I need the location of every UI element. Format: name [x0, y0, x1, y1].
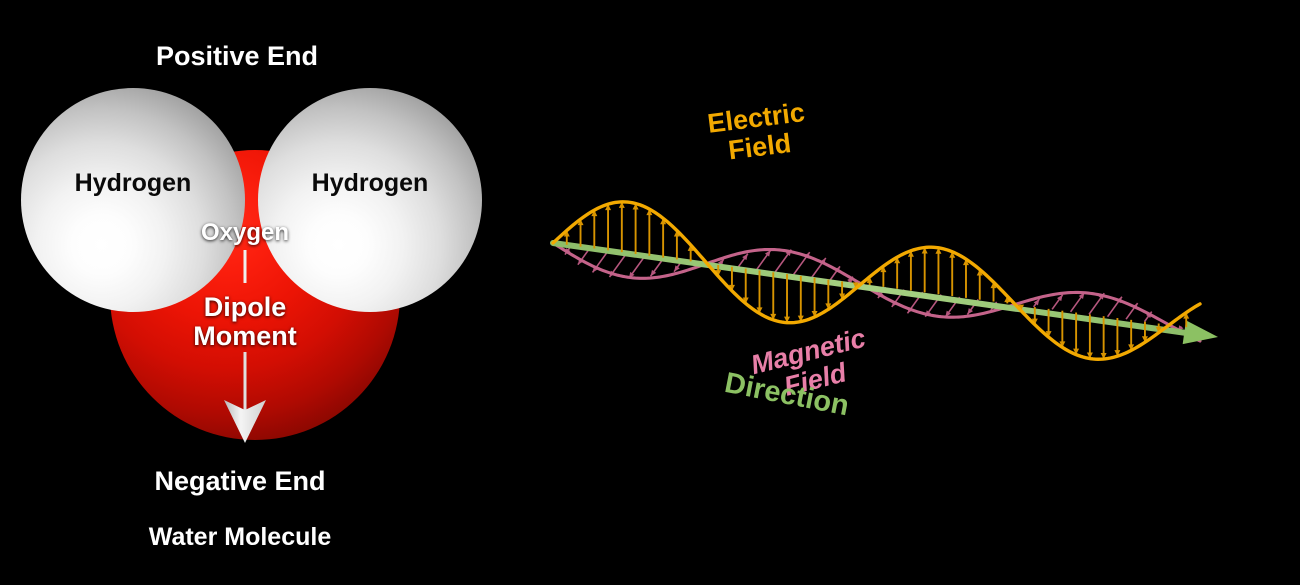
diagram-canvas: Positive End Hydrogen Hydrogen Oxygen Di… — [0, 0, 1300, 585]
em-wave-graphic — [500, 0, 1300, 585]
propagation-axis-line — [553, 243, 1190, 334]
electromagnetic-wave-panel: Electric Field Magnetic Field Direction — [500, 0, 1300, 585]
water-molecule-panel: Positive End Hydrogen Hydrogen Oxygen Di… — [0, 0, 500, 585]
dipole-moment-arrow — [0, 0, 500, 585]
electric-field-wave — [553, 202, 1200, 359]
electric-field-label: Electric Field — [706, 98, 810, 167]
electric-field-arrows — [564, 202, 1189, 359]
propagation-arrowhead — [1183, 320, 1218, 344]
